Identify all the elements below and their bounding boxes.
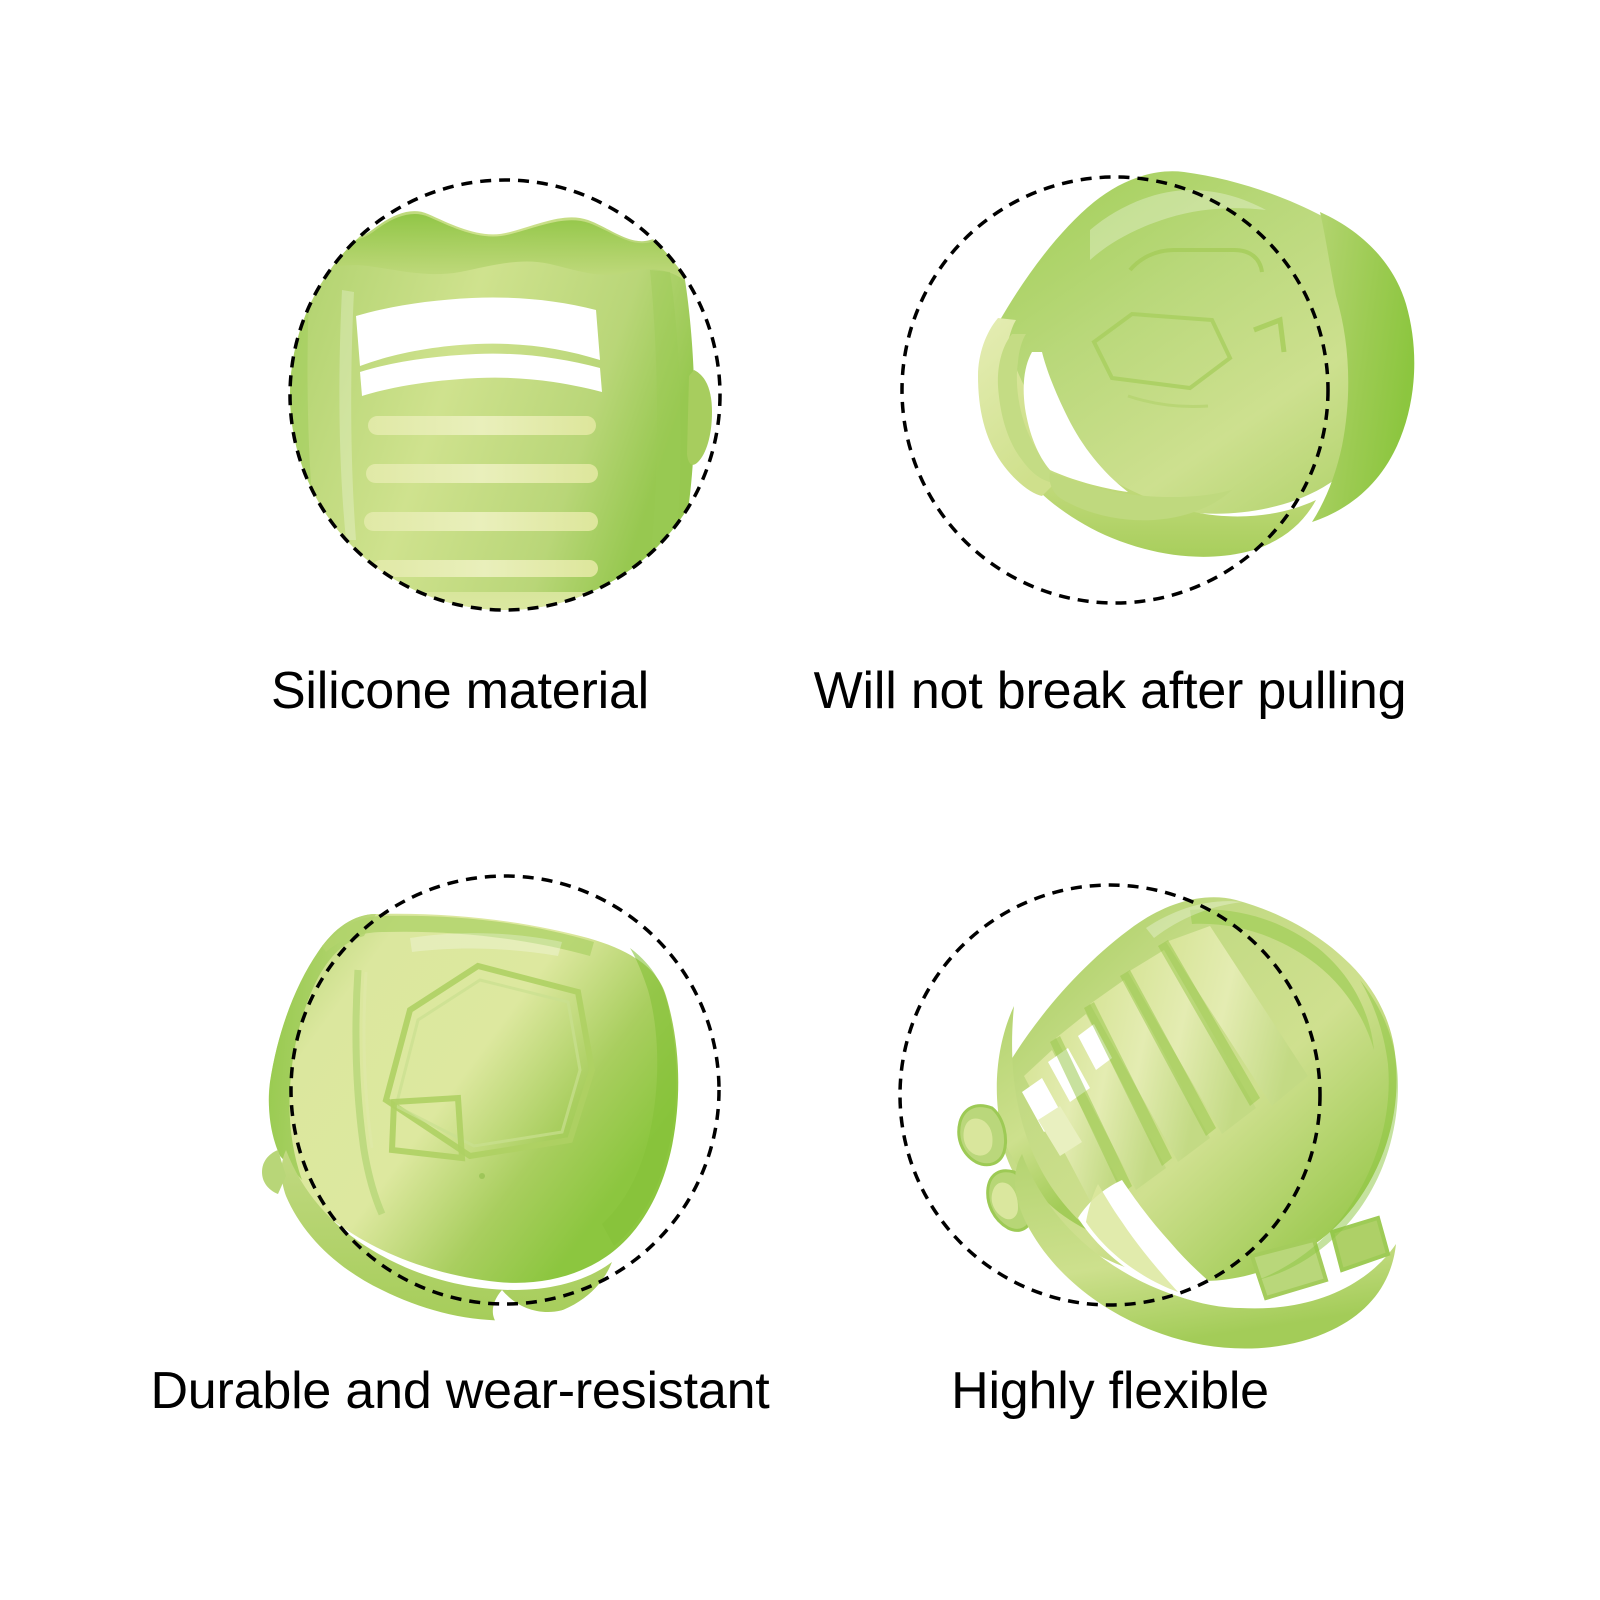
product-photo-bottom-right [959, 897, 1398, 1348]
product-photo-top-left [241, 211, 712, 660]
product-photo-top-right [978, 171, 1414, 557]
infographic-page: Silicone material [0, 0, 1600, 1600]
feature-caption-silicone-material: Silicone material [110, 660, 810, 722]
feature-caption-flexible: Highly flexible [760, 1360, 1460, 1422]
feature-panel-flexible: Highly flexible [760, 820, 1460, 1520]
feature-panel-durable: Durable and wear-resistant [110, 820, 810, 1520]
feature-image-durable [110, 820, 810, 1360]
product-photo-bottom-left [262, 914, 678, 1340]
feature-image-will-not-break [760, 120, 1460, 660]
feature-caption-will-not-break: Will not break after pulling [760, 660, 1460, 722]
feature-panel-silicone-material: Silicone material [110, 120, 810, 820]
feature-panel-will-not-break: Will not break after pulling [760, 120, 1460, 820]
feature-caption-durable: Durable and wear-resistant [110, 1360, 810, 1422]
feature-image-silicone-material [110, 120, 810, 660]
feature-image-flexible [760, 820, 1460, 1360]
